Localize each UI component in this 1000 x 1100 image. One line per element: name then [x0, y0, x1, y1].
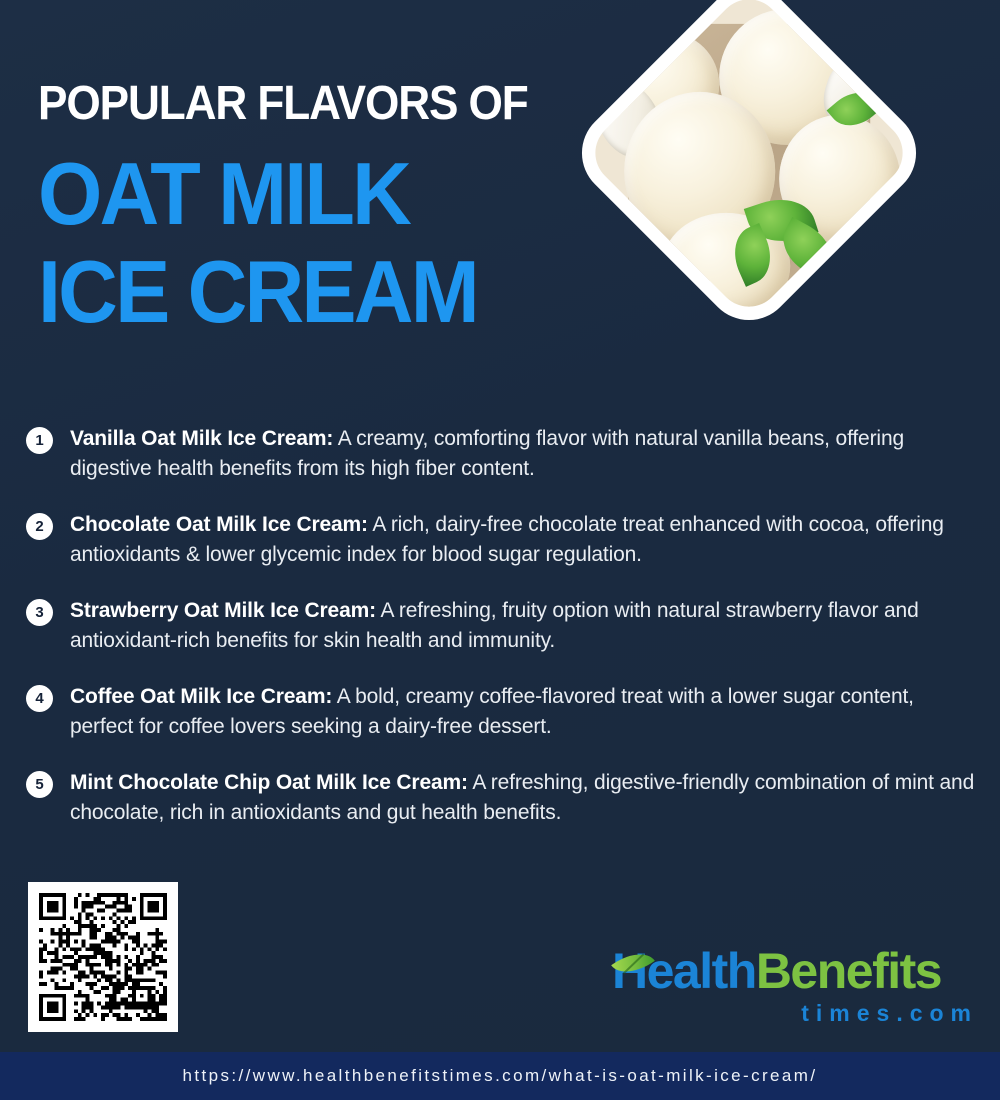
- headline-line-1: OAT MILK: [38, 142, 602, 246]
- list-item-text: Coffee Oat Milk Ice Cream: A bold, cream…: [70, 682, 978, 742]
- list-item-number: 3: [26, 599, 53, 626]
- list-item: 2 Chocolate Oat Milk Ice Cream: A rich, …: [26, 510, 978, 570]
- list-item-number: 4: [26, 685, 53, 712]
- qr-code[interactable]: [28, 882, 178, 1032]
- flavor-name: Chocolate Oat Milk Ice Cream:: [70, 513, 368, 536]
- logo-health-text: Health: [612, 943, 756, 999]
- logo-benefits-text: Benefits: [756, 943, 941, 999]
- list-item-text: Strawberry Oat Milk Ice Cream: A refresh…: [70, 596, 978, 656]
- kicker-text: POPULAR FLAVORS OF: [38, 78, 590, 130]
- list-item-number: 5: [26, 771, 53, 798]
- qr-code-image: [39, 893, 167, 1021]
- flavor-name: Coffee Oat Milk Ice Cream:: [70, 685, 332, 708]
- logo-domain-text: times.com: [612, 1000, 982, 1027]
- list-item-text: Mint Chocolate Chip Oat Milk Ice Cream: …: [70, 768, 978, 828]
- headline-line-2: ICE CREAM: [38, 240, 602, 344]
- list-item: 3 Strawberry Oat Milk Ice Cream: A refre…: [26, 596, 978, 656]
- list-item-number: 2: [26, 513, 53, 540]
- list-item: 5 Mint Chocolate Chip Oat Milk Ice Cream…: [26, 768, 978, 828]
- title-block: POPULAR FLAVORS OF OAT MILK ICE CREAM: [38, 78, 638, 344]
- list-item: 1 Vanilla Oat Milk Ice Cream: A creamy, …: [26, 424, 978, 484]
- infographic-poster: POPULAR FLAVORS OF OAT MILK ICE CREAM: [0, 0, 1000, 1100]
- list-item-number: 1: [26, 427, 53, 454]
- footer-bar: https://www.healthbenefitstimes.com/what…: [0, 1052, 1000, 1100]
- list-item: 4 Coffee Oat Milk Ice Cream: A bold, cre…: [26, 682, 978, 742]
- flavor-name: Vanilla Oat Milk Ice Cream:: [70, 427, 333, 450]
- flavor-name: Strawberry Oat Milk Ice Cream:: [70, 599, 376, 622]
- logo-wordmark: HealthBenefits: [612, 944, 982, 998]
- list-item-text: Vanilla Oat Milk Ice Cream: A creamy, co…: [70, 424, 978, 484]
- flavor-list: 1 Vanilla Oat Milk Ice Cream: A creamy, …: [26, 424, 978, 854]
- site-logo[interactable]: HealthBenefits times.com: [612, 944, 982, 1024]
- list-item-text: Chocolate Oat Milk Ice Cream: A rich, da…: [70, 510, 978, 570]
- flavor-name: Mint Chocolate Chip Oat Milk Ice Cream:: [70, 771, 468, 794]
- footer-url[interactable]: https://www.healthbenefitstimes.com/what…: [183, 1066, 818, 1086]
